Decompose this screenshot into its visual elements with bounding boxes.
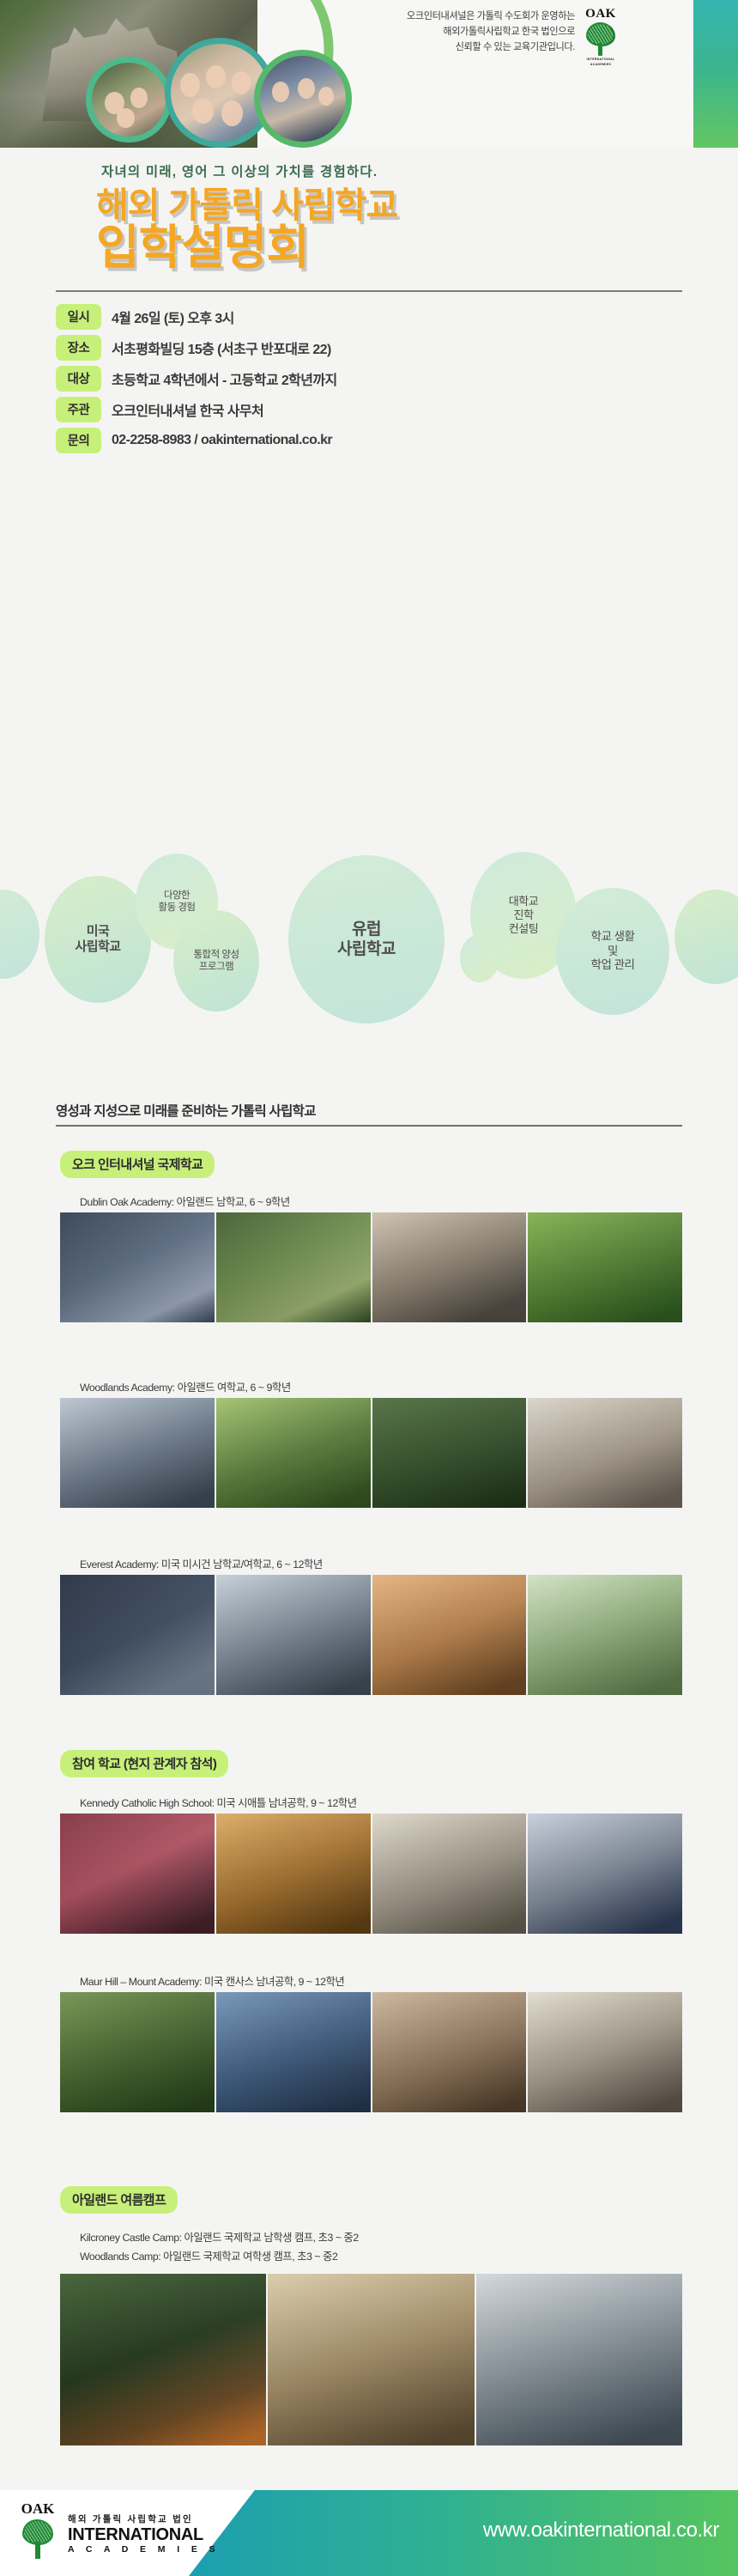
info-row-date: 일시 4월 26일 (토) 오후 3시 (56, 302, 682, 331)
info-label-venue: 장소 (56, 335, 101, 361)
oak-logo-header: OAK INTERNATIONAL ACADEMIES (577, 7, 625, 67)
event-info-list: 일시 4월 26일 (토) 오후 3시 장소 서초평화빌딩 15층 (서초구 반… (56, 302, 682, 457)
caption-woodlands-academy: Woodlands Academy: 아일랜드 여학교, 6 ~ 9학년 (80, 1379, 291, 1394)
cloud-label-integrated-program: 통합적 양성프로그램 (193, 949, 239, 973)
info-row-venue: 장소 서초평화빌딩 15층 (서초구 반포대로 22) (56, 333, 682, 362)
photo-thumb (60, 1814, 215, 1934)
info-value-organizer: 오크인터내셔널 한국 사무처 (112, 399, 263, 420)
photo-thumb (528, 1814, 682, 1934)
photo-thumb (476, 2274, 682, 2445)
title-divider (56, 290, 682, 292)
footer-academies-line: A C A D E M I E S (68, 2544, 220, 2555)
page-footer: OAK 해외 가톨릭 사립학교 법인 INTERNATIONAL A C A D… (0, 2490, 738, 2576)
footer-logo-wordmark: OAK (15, 2500, 60, 2518)
hero-photo-bubble-left (86, 57, 172, 143)
caption-dublin-oak-academy: Dublin Oak Academy: 아일랜드 남학교, 6 ~ 9학년 (80, 1194, 290, 1209)
page-title-line-2: 입학설명회 (96, 225, 738, 271)
oak-logo-footer: OAK 해외 가톨릭 사립학교 법인 INTERNATIONAL A C A D… (15, 2500, 220, 2561)
cloud-decor-far-right (674, 890, 738, 984)
oak-logo-sub-1: INTERNATIONAL (577, 58, 625, 62)
photo-thumb (216, 1814, 371, 1934)
photo-thumb (528, 1992, 682, 2112)
photo-strip-summer-camps (60, 2274, 682, 2445)
caption-woodlands-camp: Woodlands Camp: 아일랜드 국제학교 여학생 캠프, 초3 ~ 중… (80, 2248, 337, 2263)
cloud-label-school-life-management: 학교 생활및학업 관리 (591, 930, 635, 972)
oak-logo-wordmark: OAK (577, 7, 625, 21)
photo-thumb (528, 1212, 682, 1322)
page-title-line-1: 해외 가톨릭 사립학교 (96, 188, 738, 222)
students-group-icon (92, 63, 166, 137)
benefits-bubble-cloud: 미국사립학교 다양한활동 경험 통합적 양성프로그램 유럽사립학교 대학교진학컨… (0, 859, 738, 1005)
oak-tree-icon (584, 22, 617, 57)
photo-thumb (60, 1212, 215, 1322)
caption-maur-hill-mount-academy: Maur Hill – Mount Academy: 미국 캔사스 남녀공학, … (80, 1973, 344, 1989)
info-label-contact: 문의 (56, 428, 101, 453)
photo-thumb (372, 1575, 527, 1695)
cloud-label-diverse-activities: 다양한활동 경험 (158, 890, 195, 914)
section-heading-divider (56, 1125, 682, 1127)
header-gradient-bar (693, 0, 738, 148)
tag-participating-schools: 참여 학교 (현지 관계자 참석) (60, 1750, 228, 1777)
header-description: 오크인터내셔널은 가톨릭 수도회가 운영하는 해외가톨릭사립학교 한국 법인으로… (318, 9, 575, 55)
photo-strip-dublin-oak-academy (60, 1212, 682, 1322)
photo-thumb (216, 1992, 371, 2112)
tag-ireland-summer-camp: 아일랜드 여름캠프 (60, 2186, 178, 2214)
photo-thumb (528, 1575, 682, 1695)
info-value-date: 4월 26일 (토) 오후 3시 (112, 307, 234, 327)
caption-everest-academy: Everest Academy: 미국 미시건 남학교/여학교, 6 ~ 12학… (80, 1556, 323, 1571)
oak-logo-sub-2: ACADEMIES (577, 63, 625, 67)
page-header: 오크인터내셔널은 가톨릭 수도회가 운영하는 해외가톨릭사립학교 한국 법인으로… (0, 0, 738, 148)
header-description-line-3: 신뢰할 수 있는 교육기관입니다. (318, 39, 575, 55)
info-value-audience: 초등학교 4학년에서 - 고등학교 2학년까지 (112, 368, 337, 389)
tag-oak-international-schools: 오크 인터내셔널 국제학교 (60, 1151, 215, 1178)
oak-tree-icon (21, 2519, 55, 2561)
photo-thumb (60, 1992, 215, 2112)
footer-website-url[interactable]: www.oakinternational.co.kr (483, 2518, 719, 2543)
info-row-audience: 대상 초등학교 4학년에서 - 고등학교 2학년까지 (56, 364, 682, 393)
photo-strip-woodlands-academy (60, 1398, 682, 1508)
photo-strip-maur-hill (60, 1992, 682, 2112)
poster-page: 오크인터내셔널은 가톨릭 수도회가 운영하는 해외가톨릭사립학교 한국 법인으로… (0, 0, 738, 2576)
footer-logo-mark: OAK (15, 2500, 60, 2561)
photo-thumb (372, 1814, 527, 1934)
info-label-organizer: 주관 (56, 397, 101, 422)
cloud-label-us-private-school: 미국사립학교 (75, 924, 120, 956)
header-description-line-1: 오크인터내셔널은 가톨릭 수도회가 운영하는 (318, 9, 575, 24)
cloud-label-europe-private-school: 유럽사립학교 (337, 920, 396, 959)
cloud-decor-far-left (0, 890, 39, 979)
photo-thumb (528, 1398, 682, 1508)
footer-logo-text: 해외 가톨릭 사립학교 법인 INTERNATIONAL A C A D E M… (68, 2500, 220, 2555)
header-description-line-2: 해외가톨릭사립학교 한국 법인으로 (318, 24, 575, 39)
info-row-organizer: 주관 오크인터내셔널 한국 사무처 (56, 395, 682, 424)
info-label-date: 일시 (56, 304, 101, 330)
info-row-contact[interactable]: 문의 02-2258-8983 / oakinternational.co.kr (56, 426, 682, 455)
photo-thumb (268, 2274, 474, 2445)
title-block: 자녀의 미래, 영어 그 이상의 가치를 경험하다. 해외 가톨릭 사립학교 입… (0, 161, 738, 271)
section-heading: 영성과 지성으로 미래를 준비하는 가톨릭 사립학교 (56, 1101, 316, 1120)
caption-kennedy-catholic-high-school: Kennedy Catholic High School: 미국 시애틀 남녀공… (80, 1795, 357, 1810)
cloud-bubble-integrated-program: 통합적 양성프로그램 (173, 910, 259, 1012)
cloud-label-university-consulting: 대학교진학컨설팅 (509, 895, 538, 936)
photo-thumb (60, 1398, 215, 1508)
photo-thumb (60, 2274, 266, 2445)
photo-thumb (372, 1212, 527, 1322)
photo-thumb (216, 1575, 371, 1695)
photo-thumb (216, 1212, 371, 1322)
hero-photo-bubble-right (254, 50, 352, 148)
photo-thumb (372, 1992, 527, 2112)
photo-thumb (60, 1575, 215, 1695)
photo-thumb (216, 1398, 371, 1508)
photo-strip-everest-academy (60, 1575, 682, 1695)
info-value-venue: 서초평화빌딩 15층 (서초구 반포대로 22) (112, 337, 331, 358)
info-label-audience: 대상 (56, 366, 101, 392)
footer-korean-line: 해외 가톨릭 사립학교 법인 (68, 2512, 220, 2525)
poster-subtitle: 자녀의 미래, 영어 그 이상의 가치를 경험하다. (0, 161, 738, 180)
uniform-students-icon (260, 56, 346, 142)
page-title: 해외 가톨릭 사립학교 입학설명회 (0, 188, 738, 271)
info-value-contact[interactable]: 02-2258-8983 / oakinternational.co.kr (112, 433, 332, 448)
cloud-bubble-europe-private-school: 유럽사립학교 (288, 855, 445, 1024)
cloud-bubble-school-life-management: 학교 생활및학업 관리 (556, 888, 669, 1015)
photo-thumb (372, 1398, 527, 1508)
footer-english-line: INTERNATIONAL (68, 2525, 220, 2544)
photo-strip-kennedy-catholic (60, 1814, 682, 1934)
caption-kilcroney-castle-camp: Kilcroney Castle Camp: 아일랜드 국제학교 남학생 캠프,… (80, 2229, 359, 2245)
